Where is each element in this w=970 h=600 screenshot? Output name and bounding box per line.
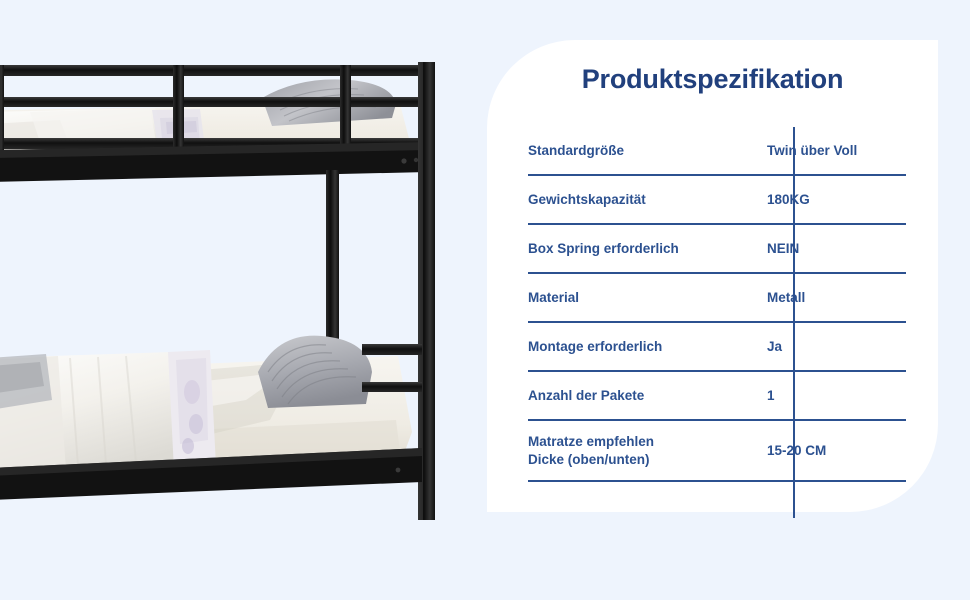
spec-value: NEIN — [753, 240, 906, 258]
spec-value: 15-20 CM — [753, 442, 906, 460]
spec-key: Standardgröße — [528, 142, 753, 160]
spec-key: Matratze empfehlen Dicke (oben/unten) — [528, 433, 753, 469]
spec-value: Twin über Voll — [753, 142, 906, 160]
table-row: Montage erforderlich Ja — [528, 323, 906, 372]
spec-key: Gewichtskapazität — [528, 191, 753, 209]
spec-value: 180KG — [753, 191, 906, 209]
table-row: Standardgröße Twin über Voll — [528, 127, 906, 176]
spec-value: Ja — [753, 338, 906, 356]
bunk-bed-illustration — [0, 0, 470, 600]
spec-key: Box Spring erforderlich — [528, 240, 753, 258]
page-title: Produktspezifikation — [487, 64, 938, 95]
spec-key: Anzahl der Pakete — [528, 387, 753, 405]
spec-key: Material — [528, 289, 753, 307]
page-root: Produktspezifikation Standardgröße Twin … — [0, 0, 970, 600]
product-photo — [0, 0, 470, 600]
table-row: Box Spring erforderlich NEIN — [528, 225, 906, 274]
table-row: Anzahl der Pakete 1 — [528, 372, 906, 421]
spec-value: 1 — [753, 387, 906, 405]
table-row: Gewichtskapazität 180KG — [528, 176, 906, 225]
spec-key: Montage erforderlich — [528, 338, 753, 356]
table-row: Matratze empfehlen Dicke (oben/unten) 15… — [528, 421, 906, 482]
spec-key-line-2: Dicke (oben/unten) — [528, 451, 743, 469]
table-row-empty — [528, 482, 906, 518]
spec-key-line-1: Matratze empfehlen — [528, 433, 743, 451]
specification-table: Standardgröße Twin über Voll Gewichtskap… — [528, 127, 906, 518]
table-row: Material Metall — [528, 274, 906, 323]
product-specification-card: Produktspezifikation Standardgröße Twin … — [487, 40, 938, 512]
spec-value: Metall — [753, 289, 906, 307]
